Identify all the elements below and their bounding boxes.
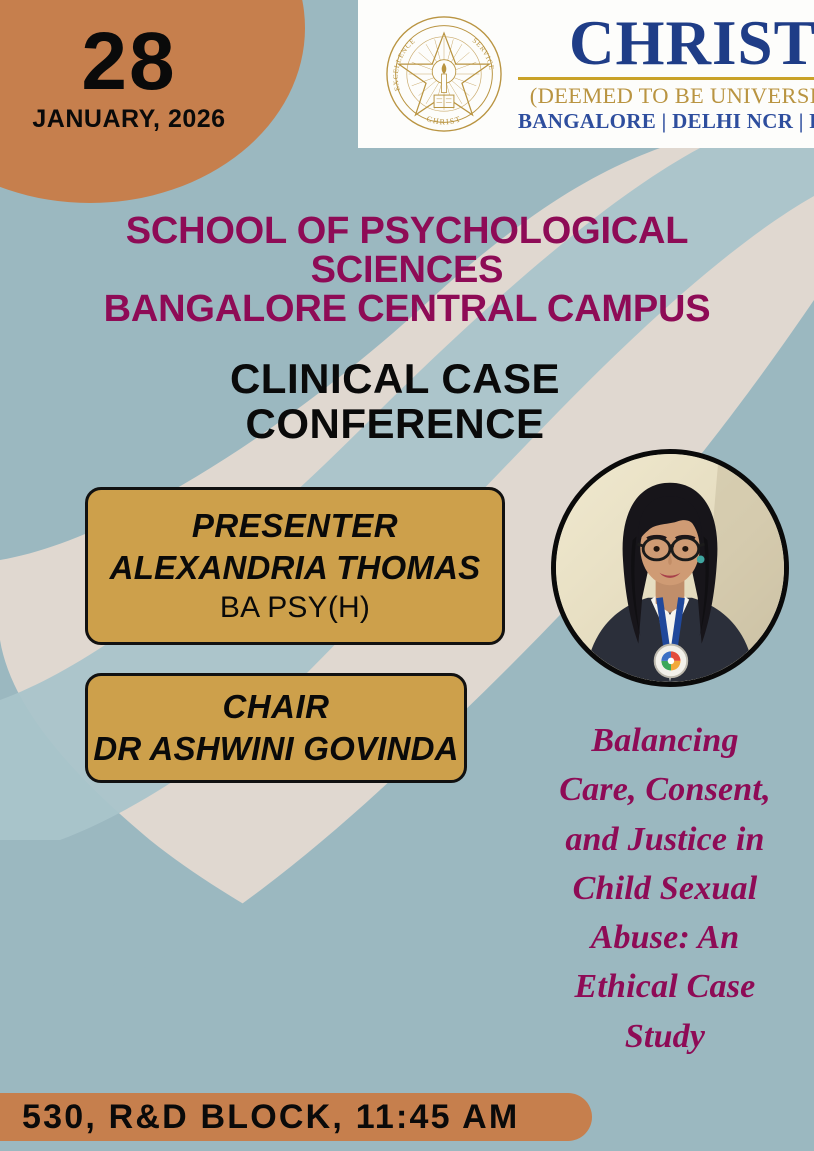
venue-text: 530, R&D BLOCK, 11:45 AM bbox=[22, 1098, 519, 1137]
presenter-portrait bbox=[551, 449, 789, 687]
talk-title-line-6: Ethical Case bbox=[522, 962, 808, 1011]
presenter-qualification: BA PSY(H) bbox=[220, 588, 370, 627]
logo-wordmark-text: CHRIST bbox=[569, 14, 814, 74]
svg-text:SERVICE: SERVICE bbox=[471, 37, 496, 72]
school-heading: SCHOOL OF PSYCHOLOGICAL SCIENCES BANGALO… bbox=[0, 212, 814, 329]
school-heading-line-3: BANGALORE CENTRAL CAMPUS bbox=[0, 290, 814, 329]
event-date-block: 28 JANUARY, 2026 bbox=[14, 24, 244, 134]
talk-title-line-1: Balancing bbox=[522, 716, 808, 765]
talk-title-line-3: and Justice in bbox=[522, 815, 808, 864]
event-title-line-1: CLINICAL CASE bbox=[0, 357, 790, 402]
presenter-box: PRESENTER ALEXANDRIA THOMAS BA PSY(H) bbox=[85, 487, 505, 645]
event-month-year: JANUARY, 2026 bbox=[14, 105, 244, 134]
talk-title-line-5: Abuse: An bbox=[522, 913, 808, 962]
talk-title-line-2: Care, Consent, bbox=[522, 765, 808, 814]
chair-box: CHAIR DR ASHWINI GOVINDA bbox=[85, 673, 467, 783]
school-heading-line-1: SCHOOL OF PSYCHOLOGICAL bbox=[0, 212, 814, 251]
christ-wordmark: CHRIST (DEEMED TO BE UNIVERSITY) BANGALO… bbox=[518, 14, 814, 134]
talk-title-line-4: Child Sexual bbox=[522, 864, 808, 913]
christ-university-crest-icon: EXCELLENCE SERVICE CHRIST bbox=[382, 12, 506, 136]
crest-service-text: SERVICE bbox=[471, 37, 496, 72]
event-poster: EXCELLENCE SERVICE CHRIST CHRIST (DEEMED… bbox=[0, 0, 814, 1151]
event-day-number: 28 bbox=[14, 24, 244, 99]
presenter-name: ALEXANDRIA THOMAS bbox=[110, 547, 481, 589]
svg-text:CHRIST: CHRIST bbox=[425, 114, 462, 126]
event-title-line-2: CONFERENCE bbox=[0, 402, 790, 447]
venue-bar: 530, R&D BLOCK, 11:45 AM bbox=[0, 1093, 592, 1141]
presenter-role-label: PRESENTER bbox=[192, 505, 398, 547]
talk-title: Balancing Care, Consent, and Justice in … bbox=[522, 716, 808, 1061]
talk-title-line-7: Study bbox=[522, 1012, 808, 1061]
christ-university-logo-card: EXCELLENCE SERVICE CHRIST CHRIST (DEEMED… bbox=[358, 0, 814, 148]
logo-campuses-text: BANGALORE | DELHI NCR | PUNE bbox=[518, 109, 814, 134]
logo-subtitle-text: (DEEMED TO BE UNIVERSITY) bbox=[530, 83, 814, 109]
crest-christ-text: CHRIST bbox=[425, 114, 462, 126]
school-heading-line-2: SCIENCES bbox=[0, 251, 814, 290]
chair-role-label: CHAIR bbox=[223, 686, 330, 728]
presenter-portrait-image bbox=[556, 454, 784, 682]
logo-gold-divider bbox=[518, 77, 814, 80]
chair-name: DR ASHWINI GOVINDA bbox=[93, 728, 458, 770]
event-title: CLINICAL CASE CONFERENCE bbox=[0, 357, 790, 446]
